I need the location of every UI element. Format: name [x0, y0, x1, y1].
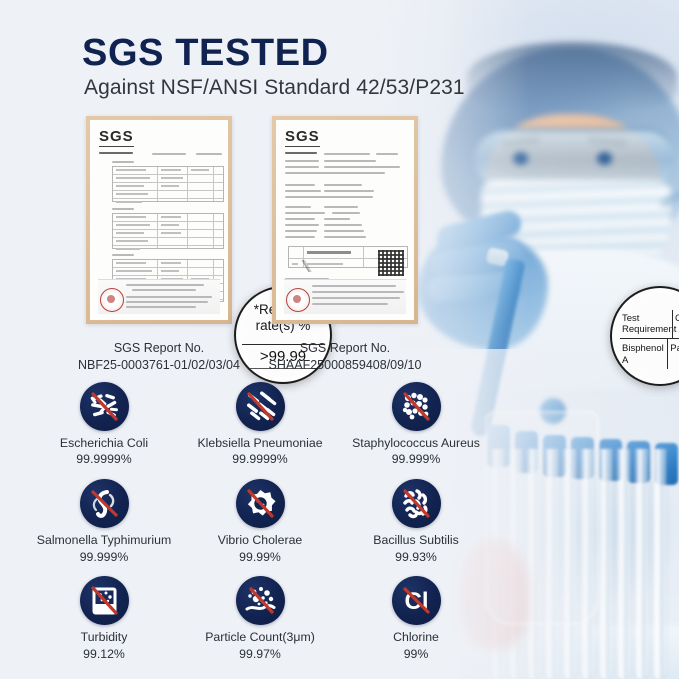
caption-line2: NBF25-0003761-01/02/03/04 [54, 357, 264, 374]
badge-percent: 99.12% [26, 646, 182, 664]
magnified-table-row: Bisphenol A Pass [620, 339, 679, 368]
badge-label: Bacillus Subtilis [338, 533, 494, 548]
magnified-col1-header: Test Requirement [620, 310, 672, 338]
badge-staphylococcus-aureus[interactable]: Staphylococcus Aureus 99.999% [338, 382, 494, 469]
badge-label: Turbidity [26, 630, 182, 645]
magnifier-bpa-table: Test Requirement Comment Bisphenol A Pas… [610, 286, 679, 386]
content-root: SGS TESTED Against NSF/ANSI Standard 42/… [0, 0, 679, 679]
no-turbidity-icon [80, 576, 129, 625]
badge-percent: 99% [338, 646, 494, 664]
page-title: SGS TESTED [82, 34, 329, 74]
badge-label: Salmonella Typhimurium [26, 533, 182, 548]
badge-percent: 99.9999% [182, 451, 338, 469]
badge-label: Staphylococcus Aureus [338, 436, 494, 451]
badge-percent: 99.99% [182, 549, 338, 567]
certificate-page: SGS [90, 120, 228, 320]
magnified-table-header: Test Requirement Comment [620, 310, 679, 339]
sgs-logo: SGS [99, 128, 134, 147]
contaminant-badge-grid: Escherichia Coli 99.9999% [26, 382, 496, 664]
no-chlorine-icon: Cl [392, 576, 441, 625]
badge-label: Vibrio Cholerae [182, 533, 338, 548]
badge-row: Escherichia Coli 99.9999% [26, 382, 496, 469]
certificate-caption-right: SGS Report No. SHAAF25000859408/09/10 [240, 340, 450, 373]
no-particles-icon [236, 576, 285, 625]
badge-percent: 99.97% [182, 646, 338, 664]
badge-percent: 99.9999% [26, 451, 182, 469]
sgs-logo: SGS [285, 128, 320, 147]
no-staph-icon [392, 382, 441, 431]
certificate-caption-left: SGS Report No. NBF25-0003761-01/02/03/04 [54, 340, 264, 373]
no-ecoli-icon [80, 382, 129, 431]
caption-line1: SGS Report No. [240, 340, 450, 357]
badge-label: Chlorine [338, 630, 494, 645]
no-bacillus-icon [392, 479, 441, 528]
caption-line2: SHAAF25000859408/09/10 [240, 357, 450, 374]
badge-turbidity[interactable]: Turbidity 99.12% [26, 576, 182, 663]
badge-salmonella-typhimurium[interactable]: Salmonella Typhimurium 99.999% [26, 479, 182, 566]
badge-percent: 99.93% [338, 549, 494, 567]
col1-header-line1: Test [622, 313, 639, 324]
certificate-page: SGS [276, 120, 414, 320]
signature [288, 260, 326, 272]
badge-particle-count[interactable]: Particle Count(3μm) 99.97% [182, 576, 338, 663]
badge-row: Salmonella Typhimurium 99.999% Vibrio Ch… [26, 479, 496, 566]
certificate-table-2 [112, 213, 224, 249]
badge-row: Turbidity 99.12% [26, 576, 496, 663]
col1-header-line2: Requirement [622, 324, 676, 335]
caption-line1: SGS Report No. [54, 340, 264, 357]
certificate-seal [286, 288, 310, 312]
badge-label: Escherichia Coli [26, 436, 182, 451]
certificate-table-1 [112, 166, 224, 202]
badge-percent: 99.999% [338, 451, 494, 469]
badge-percent: 99.999% [26, 549, 182, 567]
badge-chlorine[interactable]: Cl Chlorine 99% [338, 576, 494, 663]
badge-label: Particle Count(3μm) [182, 630, 338, 645]
magnified-table: Test Requirement Comment Bisphenol A Pas… [620, 310, 679, 369]
magnified-row-value: Pass [667, 339, 679, 368]
no-klebsiella-icon [236, 382, 285, 431]
certificate-card-bpa[interactable]: SGS [272, 116, 418, 324]
magnified-row-label: Bisphenol A [620, 339, 667, 368]
no-vibrio-icon [236, 479, 285, 528]
badge-vibrio-cholerae[interactable]: Vibrio Cholerae 99.99% [182, 479, 338, 566]
badge-bacillus-subtilis[interactable]: Bacillus Subtilis 99.93% [338, 479, 494, 566]
certificate-card-removal-rate[interactable]: SGS [86, 116, 232, 324]
qr-code [378, 250, 404, 276]
page-subtitle: Against NSF/ANSI Standard 42/53/P231 [84, 76, 465, 100]
badge-klebsiella-pneumoniae[interactable]: Klebsiella Pneumoniae 99.9999% [182, 382, 338, 469]
no-salmonella-icon [80, 479, 129, 528]
certificate-seal [100, 288, 124, 312]
magnified-col2-header: Comment [672, 310, 679, 338]
badge-label: Klebsiella Pneumoniae [182, 436, 338, 451]
badge-escherichia-coli[interactable]: Escherichia Coli 99.9999% [26, 382, 182, 469]
